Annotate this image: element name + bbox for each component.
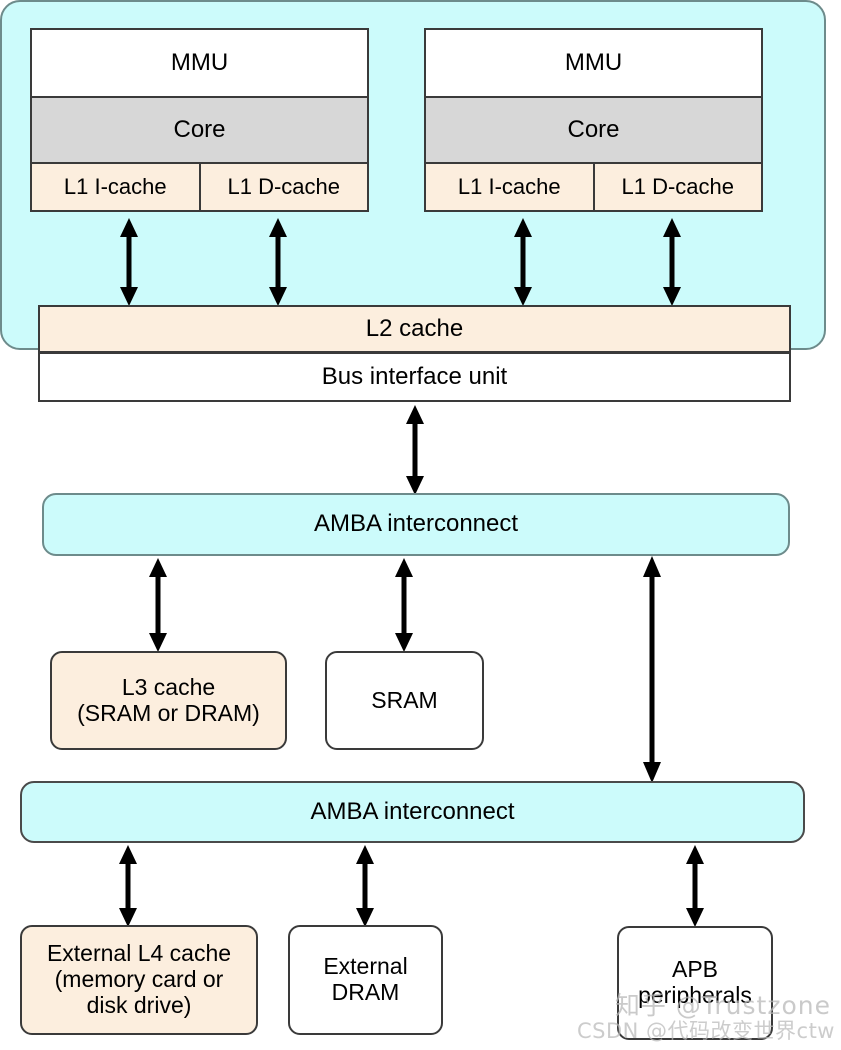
arrow-amba1-to-sram: [393, 558, 415, 652]
external-l4-cache-block: External L4 cache (memory card or disk d…: [20, 925, 258, 1035]
diagram-canvas: MMU Core L1 I-cache L1 D-cache MMU Core …: [0, 0, 841, 1050]
external-l4-cache-line-1: External L4 cache: [47, 941, 231, 967]
core-cluster-1: MMU Core L1 I-cache L1 D-cache: [424, 28, 763, 212]
arrow-l1d0-to-l2: [267, 218, 289, 306]
external-dram-block: External DRAM: [288, 925, 443, 1035]
l3-cache-line-1: L3 cache: [122, 675, 215, 701]
l1-dcache-1: L1 D-cache: [593, 162, 764, 212]
external-l4-cache-line-3: disk drive): [87, 993, 192, 1019]
l1-cache-row-1: L1 I-cache L1 D-cache: [424, 162, 763, 212]
apb-peripherals-block: APB peripherals: [617, 926, 773, 1040]
amba-interconnect-1: AMBA interconnect: [42, 493, 790, 556]
arrow-l1d1-to-l2: [661, 218, 683, 306]
l1-cache-row-0: L1 I-cache L1 D-cache: [30, 162, 369, 212]
l1-icache-0: L1 I-cache: [30, 162, 201, 212]
arrow-l1i0-to-l2: [118, 218, 140, 306]
core-block-1: Core: [424, 96, 763, 164]
arrow-amba2-to-apb-peripherals: [684, 845, 706, 927]
mmu-block-1: MMU: [424, 28, 763, 98]
external-l4-cache-line-2: (memory card or: [55, 967, 224, 993]
apb-peripherals-line-1: APB: [672, 957, 718, 983]
l1-dcache-0: L1 D-cache: [199, 162, 370, 212]
l2-cache-block: L2 cache: [38, 305, 791, 353]
l3-cache-line-2: (SRAM or DRAM): [77, 701, 260, 727]
amba-interconnect-2: AMBA interconnect: [20, 781, 805, 843]
arrow-amba2-to-l4cache: [117, 845, 139, 927]
l3-cache-block: L3 cache (SRAM or DRAM): [50, 651, 287, 750]
core-block-0: Core: [30, 96, 369, 164]
mmu-block-0: MMU: [30, 28, 369, 98]
bus-interface-unit-block: Bus interface unit: [38, 352, 791, 402]
external-dram-line-1: External: [323, 954, 407, 980]
external-dram-line-2: DRAM: [332, 980, 400, 1006]
arrow-l1i1-to-l2: [512, 218, 534, 306]
arrow-amba1-to-amba2: [641, 556, 663, 783]
apb-peripherals-line-2: peripherals: [638, 983, 752, 1009]
arrow-amba2-to-external-dram: [354, 845, 376, 927]
l1-icache-1: L1 I-cache: [424, 162, 595, 212]
core-cluster-0: MMU Core L1 I-cache L1 D-cache: [30, 28, 369, 212]
sram-block: SRAM: [325, 651, 484, 750]
arrow-biu-to-amba1: [404, 405, 426, 495]
arrow-amba1-to-l3cache: [147, 558, 169, 652]
